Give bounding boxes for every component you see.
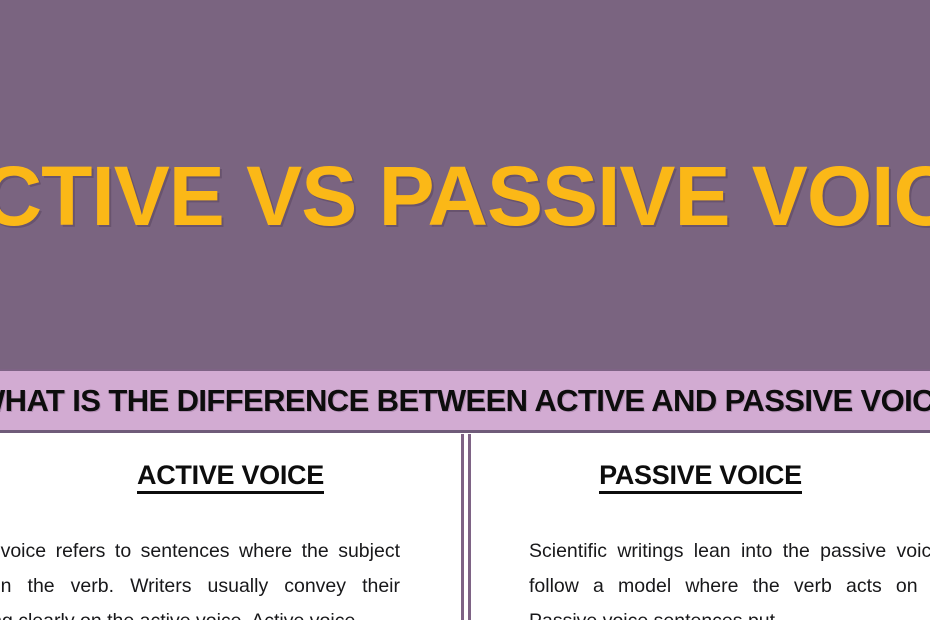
column-divider: [461, 434, 471, 620]
comparison-content: 7EM ACTIVE VOICE Active voice refers to …: [0, 434, 930, 620]
poster-root: ACTIVE VS PASSIVE VOICE WHAT IS THE DIFF…: [0, 0, 930, 620]
active-voice-body: Active voice refers to sentences where t…: [0, 534, 400, 620]
subtitle-banner: WHAT IS THE DIFFERENCE BETWEEN ACTIVE AN…: [0, 369, 930, 433]
passive-voice-body: Scientific writings lean into the passiv…: [529, 534, 930, 620]
page-title: ACTIVE VS PASSIVE VOICE: [0, 152, 930, 240]
column-active-voice: ACTIVE VOICE Active voice refers to sent…: [0, 434, 461, 620]
active-voice-heading-label: ACTIVE VOICE: [137, 460, 324, 494]
header-band: ACTIVE VS PASSIVE VOICE: [0, 0, 930, 369]
active-voice-heading: ACTIVE VOICE: [0, 458, 461, 492]
passive-voice-heading: PASSIVE VOICE: [471, 458, 930, 492]
column-passive-voice: PASSIVE VOICE Scientific writings lean i…: [471, 434, 930, 620]
subtitle-text: WHAT IS THE DIFFERENCE BETWEEN ACTIVE AN…: [0, 380, 930, 422]
passive-voice-heading-label: PASSIVE VOICE: [599, 460, 802, 494]
